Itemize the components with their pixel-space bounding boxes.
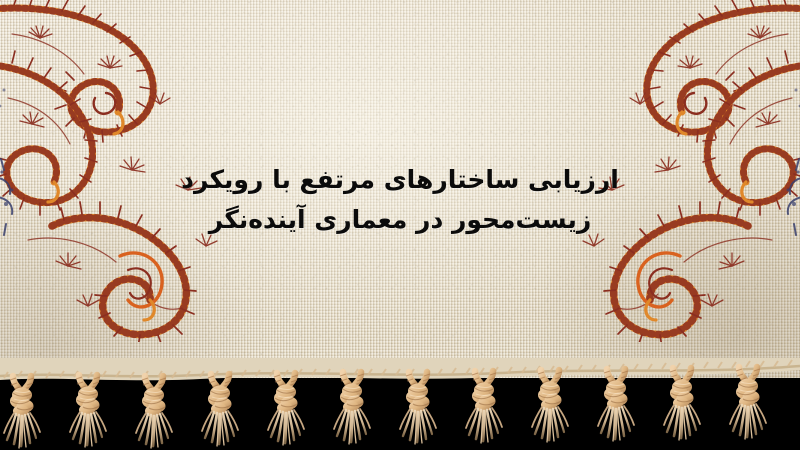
black-backdrop: [0, 378, 800, 450]
textile-title-card: ارزیابی ساختارهای مرتفع با رویکرد زیست‌م…: [0, 0, 800, 450]
page-title: ارزیابی ساختارهای مرتفع با رویکرد زیست‌م…: [0, 160, 800, 240]
title-line-2: زیست‌محور در معماری آینده‌نگر: [0, 200, 800, 240]
title-line-1: ارزیابی ساختارهای مرتفع با رویکرد: [0, 160, 800, 200]
